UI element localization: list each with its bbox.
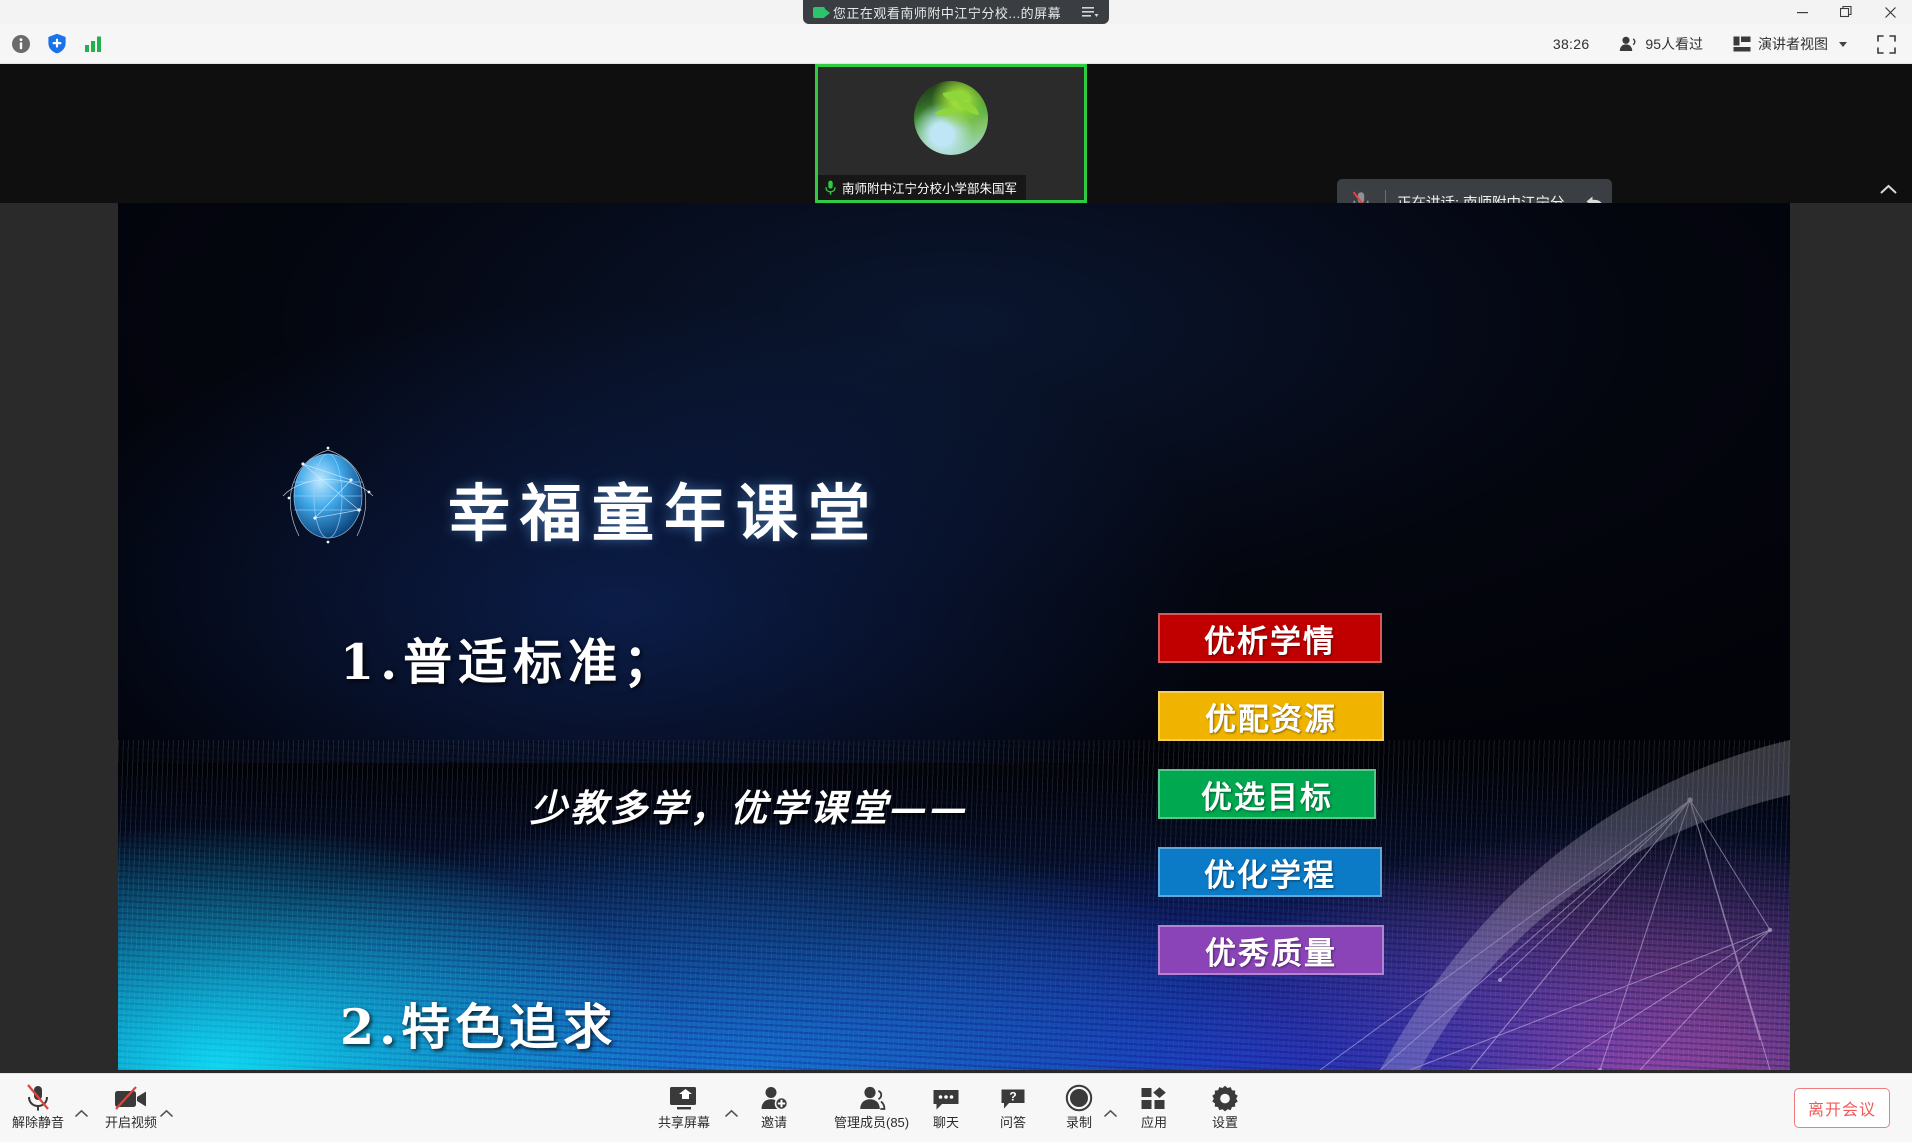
slide-badge: 优析学情 — [1158, 613, 1382, 663]
record-label: 录制 — [1066, 1115, 1092, 1130]
slide-subpoint-1: 少教多学，优学课堂—— — [530, 778, 970, 832]
slide-badge-label: 优化学程 — [1204, 850, 1336, 895]
share-screen-button[interactable]: 共享屏幕 — [650, 1080, 718, 1138]
question-answer-icon: ? — [1000, 1084, 1026, 1112]
slide-badge-list: 优析学情 优配资源 优选目标 优化学程 优秀质量 — [1158, 613, 1388, 1003]
invite-button[interactable]: 邀请 — [752, 1080, 796, 1138]
meeting-timer-value: 38:26 — [1553, 36, 1590, 52]
info-icon — [11, 34, 31, 54]
chevron-up-icon — [1880, 184, 1897, 195]
leave-meeting-button[interactable]: 离开会议 — [1794, 1088, 1890, 1128]
toolbar-left-group — [0, 31, 106, 57]
slide-title: 幸福童年课堂 — [448, 463, 880, 553]
chevron-up-icon — [160, 1109, 173, 1118]
meeting-timer[interactable]: 38:26 — [1543, 31, 1600, 57]
window-controls — [1780, 0, 1912, 24]
participant-video-strip: 南师附中江宁分校小学部朱国军 正在讲话: 南师附中江宁分... — [0, 64, 1912, 203]
record-icon — [1064, 1084, 1094, 1112]
avatar — [914, 81, 988, 155]
window-title-bar: 您正在观看南师附中江宁分校...的屏幕 — [0, 0, 1912, 24]
participant-name-label: 南师附中江宁分校小学部朱国军 — [842, 178, 1017, 197]
network-stats-button[interactable] — [80, 31, 106, 57]
start-video-label: 开启视频 — [105, 1115, 157, 1130]
shared-slide[interactable]: 幸福童年课堂 1.普适标准； 少教多学，优学课堂—— 2.特色追求 课堂成长共同… — [118, 203, 1790, 1070]
fullscreen-icon — [1877, 35, 1896, 54]
chevron-up-icon — [725, 1109, 738, 1118]
viewers-count-button[interactable]: 95人看过 — [1609, 31, 1713, 57]
chat-button[interactable]: 聊天 — [924, 1080, 968, 1138]
close-icon — [1885, 7, 1896, 18]
slide-badge: 优选目标 — [1158, 769, 1376, 819]
security-shield-icon — [47, 33, 67, 54]
maximize-restore-button[interactable] — [1824, 0, 1868, 24]
viewers-count-label: 95人看过 — [1645, 34, 1703, 54]
chevron-up-icon — [75, 1109, 88, 1118]
sharing-menu-icon[interactable] — [1075, 2, 1105, 22]
restore-icon — [1840, 6, 1852, 18]
slide-point-2: 2.特色追求 — [340, 988, 617, 1059]
share-options-button[interactable] — [722, 1104, 740, 1122]
apps-button[interactable]: 应用 — [1132, 1080, 1176, 1138]
qa-label: 问答 — [1000, 1115, 1026, 1130]
meeting-top-toolbar: 38:26 95人看过 演讲者视图 — [0, 24, 1912, 64]
share-screen-icon — [668, 1084, 700, 1112]
settings-button[interactable]: 设置 — [1203, 1080, 1247, 1138]
view-mode-label: 演讲者视图 — [1758, 34, 1828, 54]
active-speaker-video-tile[interactable]: 南师附中江宁分校小学部朱国军 — [815, 64, 1087, 203]
screen-sharing-label: 您正在观看南师附中江宁分校...的屏幕 — [833, 3, 1061, 22]
globe-network-icon — [273, 440, 383, 550]
shared-screen-area: 幸福童年课堂 1.普适标准； 少教多学，优学课堂—— 2.特色追求 课堂成长共同… — [0, 203, 1912, 1073]
slide-badge: 优配资源 — [1158, 691, 1384, 741]
video-options-button[interactable] — [157, 1104, 175, 1122]
leave-meeting-label: 离开会议 — [1808, 1096, 1876, 1120]
viewers-icon — [1619, 36, 1638, 52]
minimize-button[interactable] — [1780, 0, 1824, 24]
unmute-label: 解除静音 — [12, 1115, 64, 1130]
manage-members-label: 管理成员(85) — [834, 1115, 909, 1130]
network-stats-icon — [83, 35, 103, 53]
slide-badge: 优化学程 — [1158, 847, 1382, 897]
fullscreen-button[interactable] — [1867, 31, 1906, 57]
invite-label: 邀请 — [761, 1115, 787, 1130]
members-icon — [858, 1084, 886, 1112]
hamburger-caret-icon — [1082, 6, 1099, 18]
slide-badge-label: 优秀质量 — [1205, 928, 1337, 973]
record-button[interactable]: 录制 — [1056, 1080, 1102, 1138]
meeting-bottom-toolbar: 解除静音 开启视频 共享屏幕 — [0, 1073, 1912, 1142]
slide-badge-label: 优选目标 — [1201, 772, 1333, 817]
slide-badge-label: 优配资源 — [1205, 694, 1337, 739]
close-button[interactable] — [1868, 0, 1912, 24]
screen-sharing-banner[interactable]: 您正在观看南师附中江宁分校...的屏幕 — [803, 0, 1109, 24]
collapse-video-strip-button[interactable] — [1870, 176, 1906, 202]
speaker-view-icon — [1733, 36, 1751, 52]
meeting-info-button[interactable] — [8, 31, 34, 57]
start-video-button[interactable]: 开启视频 — [97, 1080, 165, 1138]
chevron-up-icon — [1104, 1109, 1117, 1118]
camera-muted-icon — [114, 1084, 148, 1112]
qa-button[interactable]: ? 问答 — [992, 1080, 1034, 1138]
svg-text:?: ? — [1009, 1090, 1016, 1104]
audio-options-button[interactable] — [72, 1104, 90, 1122]
record-options-button[interactable] — [1101, 1104, 1119, 1122]
apps-label: 应用 — [1141, 1115, 1167, 1130]
share-screen-label: 共享屏幕 — [658, 1115, 710, 1130]
manage-members-button[interactable]: 管理成员(85) — [826, 1080, 917, 1138]
slide-badge: 优秀质量 — [1158, 925, 1384, 975]
screen-share-icon — [813, 7, 825, 18]
settings-label: 设置 — [1212, 1115, 1238, 1130]
unmute-button[interactable]: 解除静音 — [4, 1080, 72, 1138]
apps-grid-icon — [1140, 1084, 1168, 1112]
participant-name-badge: 南师附中江宁分校小学部朱国军 — [818, 175, 1026, 200]
slide-point-1: 1.普适标准； — [340, 623, 678, 694]
microphone-muted-icon — [25, 1084, 51, 1112]
slide-badge-label: 优析学情 — [1204, 616, 1336, 661]
microphone-icon — [825, 180, 836, 195]
view-mode-selector[interactable]: 演讲者视图 — [1723, 31, 1857, 57]
toolbar-right-group: 38:26 95人看过 演讲者视图 — [1543, 24, 1906, 64]
security-button[interactable] — [44, 31, 70, 57]
minimize-icon — [1797, 7, 1808, 18]
invite-person-icon — [760, 1084, 788, 1112]
chat-label: 聊天 — [933, 1115, 959, 1130]
gear-icon — [1211, 1084, 1239, 1112]
chevron-down-icon — [1839, 42, 1847, 47]
chat-icon — [932, 1084, 960, 1112]
